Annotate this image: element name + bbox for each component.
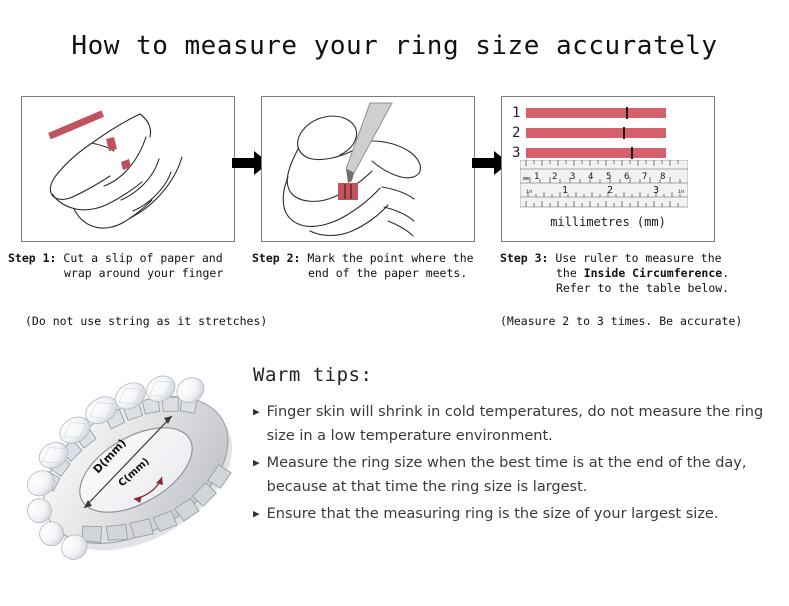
- svg-text:3: 3: [570, 172, 575, 182]
- ruler-icon: mm 123 456 78 in 123 in: [520, 160, 688, 208]
- svg-text:8: 8: [660, 172, 665, 182]
- bullet-triangle-icon: ▶: [253, 502, 260, 526]
- bullet-triangle-icon: ▶: [253, 451, 260, 475]
- strip-mark: [626, 107, 628, 119]
- svg-text:2: 2: [607, 185, 613, 196]
- inside-circumference-emphasis: Inside Circumference: [584, 266, 722, 280]
- ring-diagram: D(mm) C(mm): [22, 356, 250, 584]
- step-2-illustration-panel: [261, 96, 475, 242]
- step-3-caption: Step 3: Use ruler to measure the the Ins…: [500, 251, 762, 296]
- step-3-note: (Measure 2 to 3 times. Be accurate): [500, 314, 742, 328]
- paper-strip: [526, 128, 666, 138]
- measured-strip-row: 1: [512, 105, 666, 121]
- step-3-line3: Refer to the table below.: [500, 281, 762, 296]
- ring-size-guide-page: How to measure your ring size accurately: [0, 0, 789, 606]
- step-3-line1: Use ruler to measure the: [555, 251, 721, 265]
- paper-strip: [526, 108, 666, 118]
- svg-text:7: 7: [642, 172, 647, 182]
- step-1-note: (Do not use string as it stretches): [25, 314, 267, 328]
- step-3-line2: the Inside Circumference.: [500, 266, 762, 281]
- tip-item: ▶ Finger skin will shrink in cold temper…: [253, 400, 773, 448]
- paper-strip: [526, 148, 666, 158]
- hand-marking-paper-with-pen-icon: [262, 97, 474, 241]
- step-3-label: Step 3:: [500, 251, 548, 265]
- strip-mark: [623, 127, 625, 139]
- svg-text:6: 6: [624, 172, 629, 182]
- svg-text:5: 5: [606, 172, 611, 182]
- step-1-line1: Cut a slip of paper and: [63, 251, 222, 265]
- svg-text:2: 2: [552, 172, 557, 182]
- svg-text:1: 1: [562, 185, 568, 196]
- step-1-caption: Step 1: Cut a slip of paper and wrap aro…: [8, 251, 253, 281]
- svg-text:4: 4: [588, 172, 593, 182]
- bullet-triangle-icon: ▶: [253, 400, 260, 424]
- tip-text: Finger skin will shrink in cold temperat…: [267, 400, 773, 448]
- warm-tips-heading: Warm tips:: [253, 364, 773, 386]
- strip-number: 3: [512, 145, 526, 161]
- tip-text: Ensure that the measuring ring is the si…: [267, 502, 719, 526]
- warm-tips-section: Warm tips: ▶ Finger skin will shrink in …: [253, 364, 773, 529]
- tip-item: ▶ Measure the ring size when the best ti…: [253, 451, 773, 499]
- tip-text: Measure the ring size when the best time…: [267, 451, 773, 499]
- svg-text:in: in: [526, 189, 532, 195]
- strip-number: 1: [512, 105, 526, 121]
- step-3-illustration-panel: 1 2 3: [501, 96, 715, 242]
- measured-strip-row: 2: [512, 125, 666, 141]
- page-title: How to measure your ring size accurately: [0, 31, 789, 61]
- step-1-illustration-panel: [21, 96, 235, 242]
- step-2-label: Step 2:: [252, 251, 300, 265]
- svg-text:3: 3: [653, 185, 659, 196]
- tip-item: ▶ Ensure that the measuring ring is the …: [253, 502, 773, 526]
- step-1-line2: wrap around your finger: [8, 266, 253, 281]
- step-2-line2: end of the paper meets.: [252, 266, 497, 281]
- step-2-line1: Mark the point where the: [307, 251, 473, 265]
- hand-with-paper-strip-icon: [22, 97, 234, 241]
- step-2-caption: Step 2: Mark the point where the end of …: [252, 251, 497, 281]
- strip-mark: [631, 147, 633, 159]
- measured-strip-row: 3: [512, 145, 666, 161]
- svg-text:1: 1: [534, 172, 539, 182]
- svg-text:in: in: [678, 189, 684, 195]
- strip-number: 2: [512, 125, 526, 141]
- step-1-label: Step 1:: [8, 251, 56, 265]
- svg-text:mm: mm: [523, 176, 529, 182]
- ruler-unit-caption: millimetres (mm): [502, 215, 714, 229]
